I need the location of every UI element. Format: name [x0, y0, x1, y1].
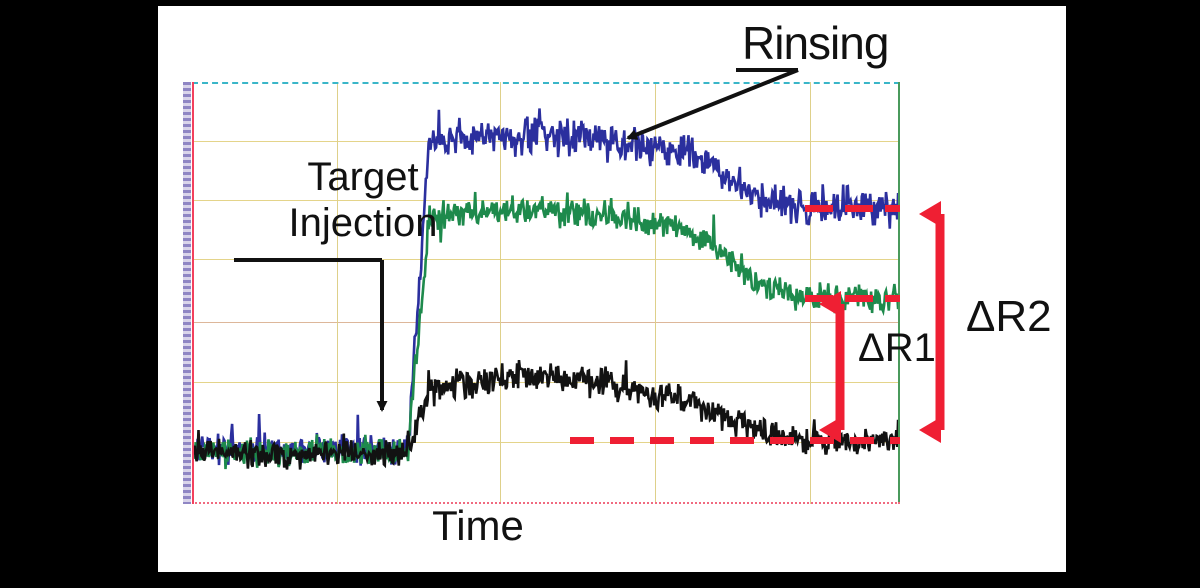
figure-card: Rinsing Target Injection ΔR1 ΔR2 Time — [158, 6, 1066, 572]
reference-line-baseline — [570, 437, 900, 444]
annotation-label-delta-r2: ΔR2 — [966, 292, 1052, 342]
series-black-sensor — [192, 360, 900, 469]
x-axis-label: Time — [158, 502, 798, 550]
target-injection-line-2: Injection — [248, 200, 478, 246]
annotation-label-rinsing: Rinsing — [742, 16, 888, 70]
annotation-label-target-injection: Target Injection — [248, 154, 478, 246]
y-axis-tick-column — [183, 82, 191, 504]
plot-frame-top — [192, 82, 900, 84]
plot-area — [192, 82, 900, 504]
plot-frame-left — [192, 82, 194, 504]
figure-root: Rinsing Target Injection ΔR1 ΔR2 Time — [0, 0, 1200, 588]
reference-line-blue-plateau — [805, 205, 900, 212]
target-injection-line-1: Target — [248, 154, 478, 200]
reference-line-green-plateau — [805, 295, 900, 302]
annotation-label-delta-r1: ΔR1 — [858, 326, 936, 371]
